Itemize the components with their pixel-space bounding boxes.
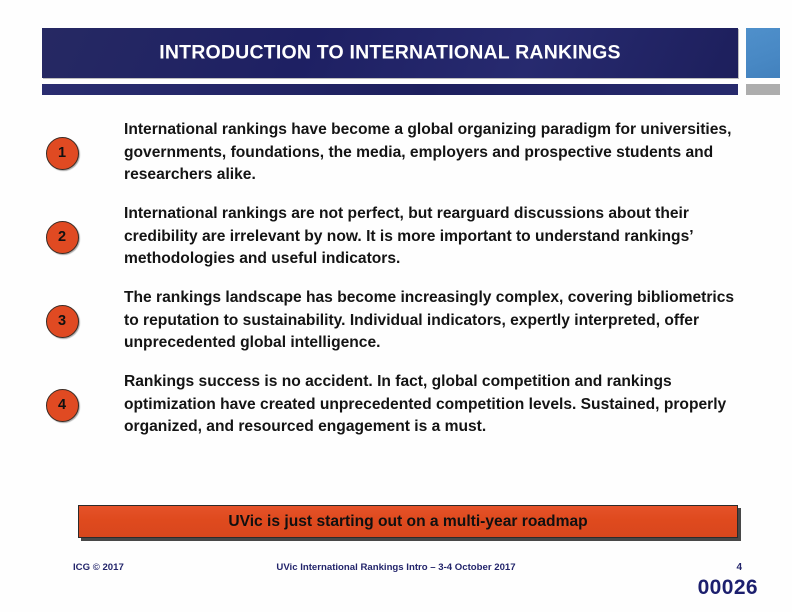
badge-cell: 2 <box>0 221 124 254</box>
point-number-badge: 2 <box>46 221 79 254</box>
list-item: 2 International rankings are not perfect… <box>0 202 792 272</box>
slide: INTRODUCTION TO INTERNATIONAL RANKINGS 1… <box>0 0 792 612</box>
point-number-badge: 3 <box>46 305 79 338</box>
list-item: 3 The rankings landscape has become incr… <box>0 286 792 356</box>
header-accent-block-gray <box>746 84 780 95</box>
point-text: Rankings success is no accident. In fact… <box>124 371 792 438</box>
footer-page-number: 4 <box>736 562 742 573</box>
point-number-badge: 1 <box>46 137 79 170</box>
badge-cell: 1 <box>0 137 124 170</box>
callout-text: UVic is just starting out on a multi-yea… <box>228 513 587 531</box>
list-item: 1 International rankings have become a g… <box>0 118 792 188</box>
page-title: INTRODUCTION TO INTERNATIONAL RANKINGS <box>42 42 738 65</box>
header-underbar <box>42 84 738 95</box>
badge-cell: 4 <box>0 389 124 422</box>
slide-footer: ICG © 2017 UVic International Rankings I… <box>0 562 792 582</box>
footer-presentation-title: UVic International Rankings Intro – 3-4 … <box>0 562 792 573</box>
callout-banner: UVic is just starting out on a multi-yea… <box>78 505 738 538</box>
point-text: The rankings landscape has become increa… <box>124 287 792 354</box>
point-text: International rankings are not perfect, … <box>124 203 792 270</box>
point-number-badge: 4 <box>46 389 79 422</box>
bates-stamp: 00026 <box>698 576 758 600</box>
header-accent-block-blue <box>746 28 780 78</box>
points-list: 1 International rankings have become a g… <box>0 118 792 454</box>
badge-cell: 3 <box>0 305 124 338</box>
list-item: 4 Rankings success is no accident. In fa… <box>0 370 792 440</box>
title-bar: INTRODUCTION TO INTERNATIONAL RANKINGS <box>42 28 738 78</box>
slide-header: INTRODUCTION TO INTERNATIONAL RANKINGS <box>0 0 792 104</box>
point-text: International rankings have become a glo… <box>124 119 792 186</box>
